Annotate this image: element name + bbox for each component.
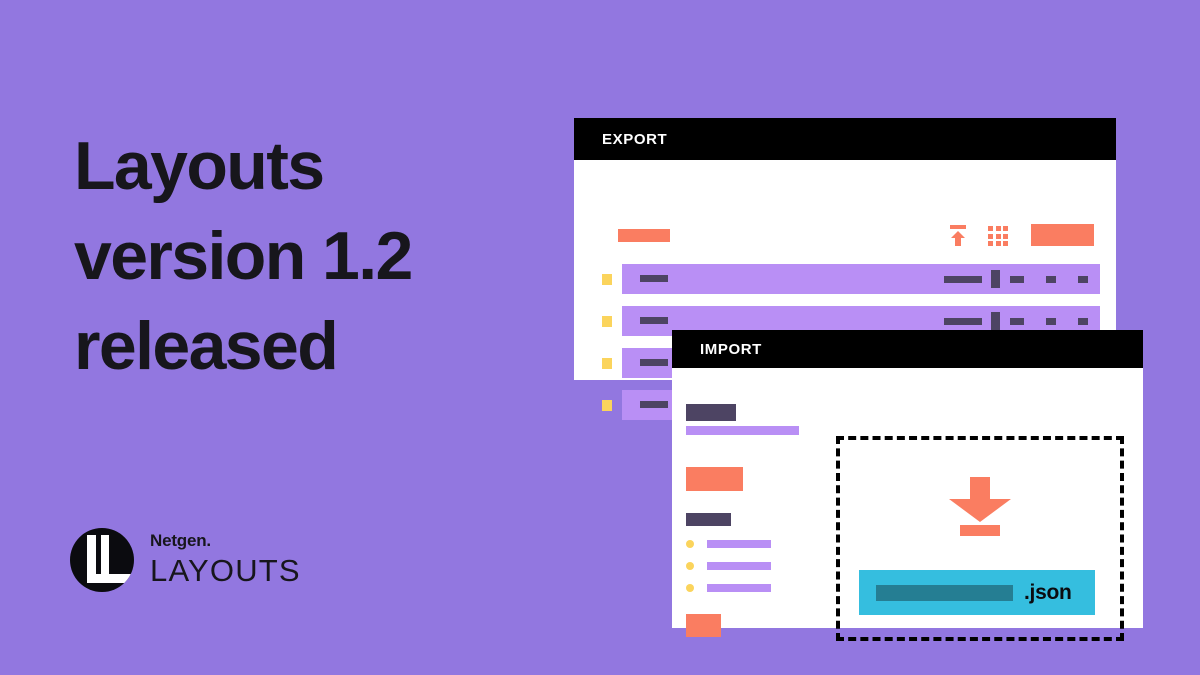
list-item-label [707, 562, 771, 570]
brand-name: Netgen. [150, 532, 301, 551]
row-label-placeholder [640, 359, 668, 366]
row-body[interactable] [622, 264, 1100, 294]
bullet-dot-icon [686, 540, 694, 548]
import-section-label [686, 513, 731, 526]
row-label-placeholder [640, 317, 668, 324]
row-bullet-icon [602, 358, 612, 369]
list-item-label [707, 584, 771, 592]
list-item[interactable] [686, 584, 816, 592]
brand-product: LAYOUTS [150, 553, 301, 589]
uploaded-file-chip[interactable]: .json [859, 570, 1095, 615]
row-label-placeholder [640, 275, 668, 282]
export-window-title: EXPORT [574, 118, 1116, 160]
export-tag-placeholder [618, 229, 670, 242]
file-name-placeholder [876, 585, 1013, 601]
netgen-logo-icon [70, 528, 134, 592]
list-item[interactable] [686, 562, 816, 570]
import-sidebar [686, 404, 816, 637]
grid-icon[interactable] [988, 226, 1008, 246]
row-bullet-icon [602, 274, 612, 285]
page-title: Layouts version 1.2 released [74, 122, 504, 391]
list-item-label [707, 540, 771, 548]
export-toolbar [574, 160, 1116, 208]
file-extension-label: .json [1024, 581, 1072, 605]
table-row[interactable] [574, 264, 1116, 294]
list-item[interactable] [686, 540, 816, 548]
file-dropzone[interactable]: .json [836, 436, 1124, 641]
upload-icon[interactable] [947, 225, 969, 247]
export-primary-button[interactable] [1031, 224, 1094, 246]
import-window: IMPORT [672, 330, 1143, 628]
import-secondary-button[interactable] [686, 614, 721, 637]
import-primary-button[interactable] [686, 467, 743, 491]
row-bullet-icon [602, 316, 612, 327]
import-heading-placeholder [686, 404, 736, 421]
import-window-body: .json [672, 368, 1143, 628]
import-window-title: IMPORT [672, 330, 1143, 368]
poster-canvas: Layouts version 1.2 released Netgen. LAY… [0, 0, 1200, 675]
row-meta-group [944, 264, 1088, 294]
brand-lockup: Netgen. LAYOUTS [70, 528, 301, 592]
bullet-dot-icon [686, 584, 694, 592]
row-bullet-icon [602, 400, 612, 411]
bullet-dot-icon [686, 562, 694, 570]
import-subtitle-placeholder [686, 426, 799, 435]
brand-text: Netgen. LAYOUTS [150, 532, 301, 588]
row-label-placeholder [640, 401, 668, 408]
